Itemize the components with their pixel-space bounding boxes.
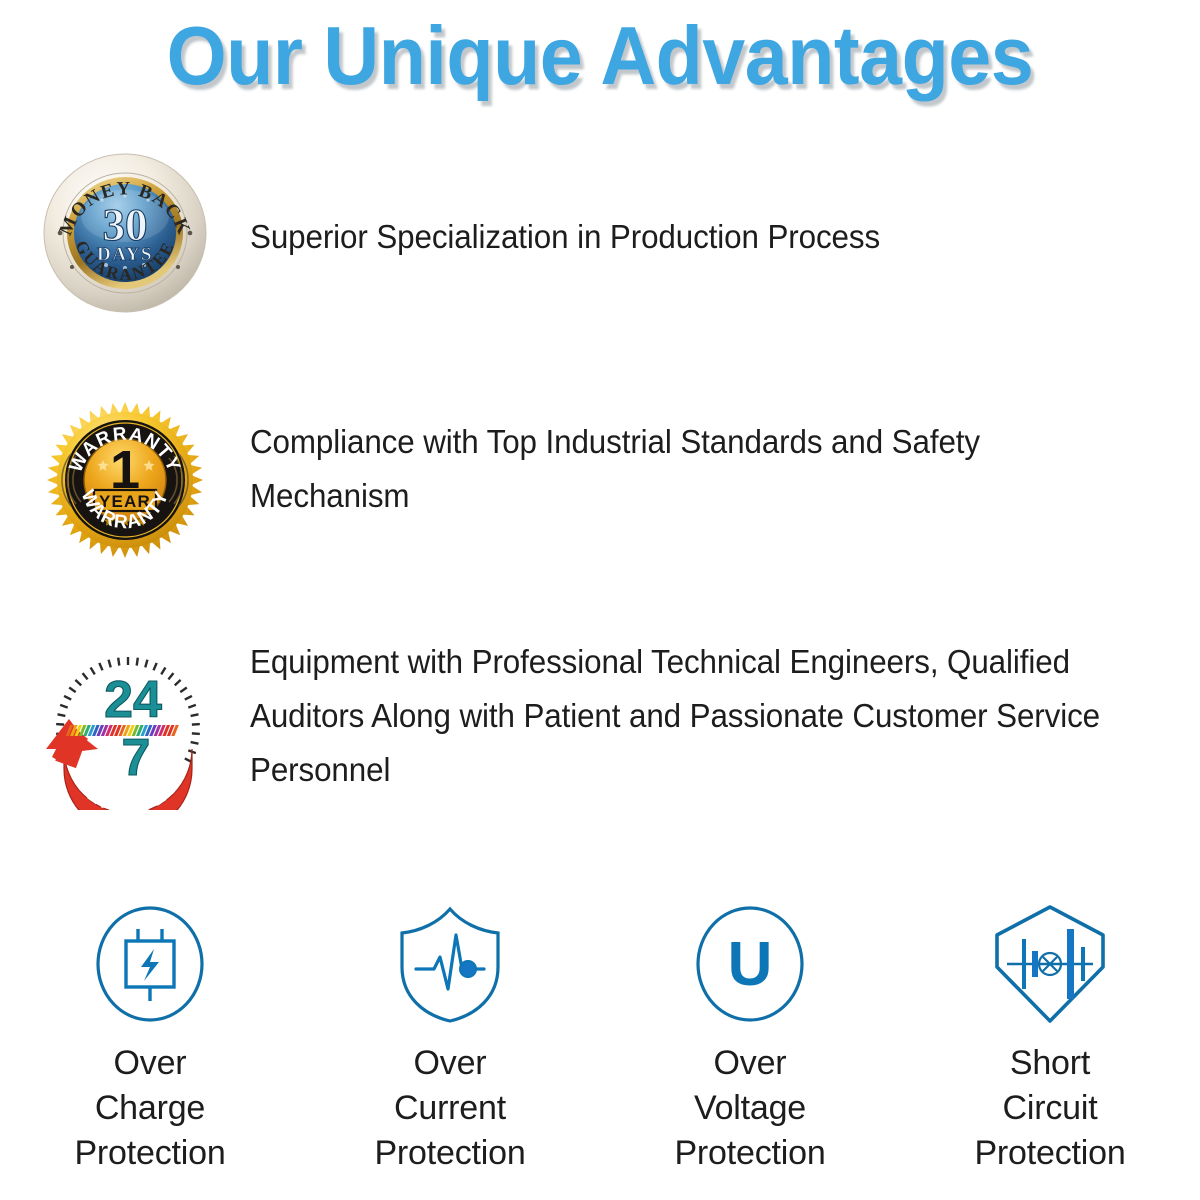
over-current-protection-icon [394,905,506,1023]
services-247-svg: 24 7 SERVICES [36,645,211,810]
svg-text:DAYS: DAYS [97,244,153,265]
over-voltage-protection-icon: U [694,905,806,1023]
protection-label-line: Charge [74,1086,225,1131]
protection-label-line: Over [674,1041,825,1086]
charge-plug-circle-svg [94,905,206,1023]
over-charge-protection-icon [94,905,206,1023]
protection-features-row: Over Charge Protection Over Current Prot… [0,905,1200,1176]
protection-label: Over Charge Protection [74,1041,225,1176]
voltage-glyph: U [728,930,773,999]
protection-label-line: Over [374,1041,525,1086]
protection-label-line: Protection [74,1131,225,1176]
protection-label: Over Voltage Protection [674,1041,825,1176]
svg-text:30: 30 [103,200,148,250]
warranty-badge-svg: 1 YEAR WARRANTY WARRANTY [45,400,205,560]
protection-item-over-current: Over Current Protection [300,905,600,1176]
feature-row: 24 7 SERVICES Equipment with Professiona… [0,635,1200,810]
short-circuit-protection-icon [991,905,1109,1023]
feature-row: 1 YEAR WARRANTY WARRANTY Compliance with [0,395,1200,560]
protection-label-line: Current [374,1086,525,1131]
money-back-guarantee-badge-icon: MONEY BACK GUARANTEE 30 DAYS [42,150,208,316]
protection-label: Over Current Protection [374,1041,525,1176]
feature-badge-container: 1 YEAR WARRANTY WARRANTY [0,395,250,560]
protection-label-line: Over [74,1041,225,1086]
page-title: Our Unique Advantages [167,14,1034,97]
feature-row: MONEY BACK GUARANTEE 30 DAYS Superior Sp… [0,150,1200,316]
protection-label: Short Circuit Protection [974,1041,1125,1176]
24-7-services-badge-icon: 24 7 SERVICES [36,645,211,810]
money-back-badge-svg: MONEY BACK GUARANTEE 30 DAYS [42,150,208,316]
protection-item-over-charge: Over Charge Protection [0,905,300,1176]
one-year-warranty-badge-icon: 1 YEAR WARRANTY WARRANTY [45,400,205,560]
protection-label-line: Short [974,1041,1125,1086]
protection-item-short-circuit: Short Circuit Protection [900,905,1200,1176]
protection-label-line: Voltage [674,1086,825,1131]
feature-text: Superior Specialization in Production Pr… [250,150,1153,264]
protection-label-line: Protection [974,1131,1125,1176]
protection-label-line: Circuit [974,1086,1125,1131]
feature-badge-container: 24 7 SERVICES [0,635,250,810]
svg-text:7: 7 [121,729,150,787]
page-header: Our Unique Advantages [0,0,1200,110]
shield-pulse-svg [394,905,506,1023]
feature-badge-container: MONEY BACK GUARANTEE 30 DAYS [0,150,250,316]
protection-label-line: Protection [374,1131,525,1176]
protection-label-line: Protection [674,1131,825,1176]
feature-text: Equipment with Professional Technical En… [250,635,1153,796]
shield-circuit-svg [991,903,1109,1025]
protection-item-over-voltage: U Over Voltage Protection [600,905,900,1176]
voltage-u-circle-svg: U [694,905,806,1023]
svg-text:24: 24 [104,671,162,729]
feature-text: Compliance with Top Industrial Standards… [250,395,1153,523]
